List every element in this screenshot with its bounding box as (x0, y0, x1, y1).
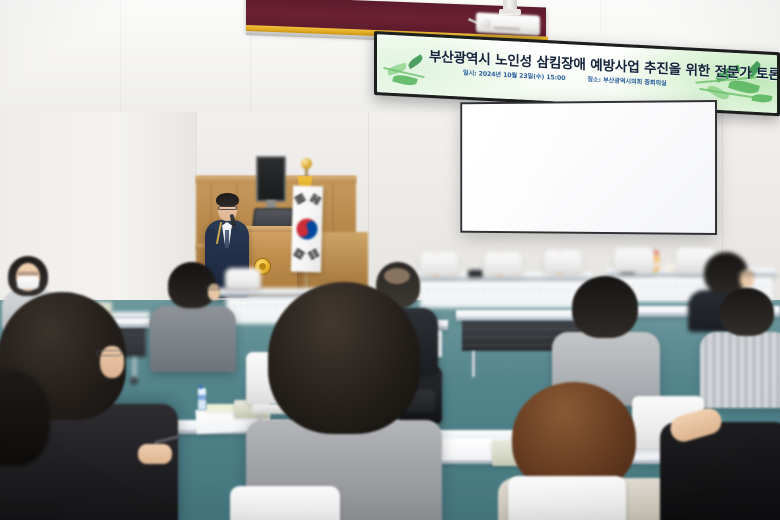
attendee-hair (0, 370, 50, 466)
trigram-geon-icon (294, 193, 306, 205)
screen-surface (462, 102, 715, 233)
glasses-icon (206, 286, 220, 290)
screen-glare (462, 103, 612, 232)
conference-chair (508, 476, 626, 520)
attendee-hand (138, 444, 172, 464)
attendee-striped-shirt (700, 288, 780, 406)
presenter-hair (216, 193, 239, 207)
glasses-icon (218, 206, 237, 210)
attendee-hair (268, 282, 420, 432)
taegukgi-korean-national-flag (291, 186, 323, 273)
glasses-icon (96, 350, 122, 356)
trigram-gam-icon (309, 194, 321, 206)
conference-chair (484, 252, 522, 276)
trigram-gon-icon (308, 249, 320, 261)
taeguk-symbol (293, 215, 321, 243)
flag-finial (301, 158, 312, 169)
leaf-icon (752, 93, 773, 104)
seminar-photo: 부산광역시 노인성 삼킴장애 예방사업 추진을 위한 전문가 토론회 일시: 2… (0, 0, 780, 520)
conference-chair (544, 250, 582, 274)
mobile-phone (468, 270, 483, 277)
table-leg (472, 351, 475, 377)
conference-chair (614, 248, 654, 273)
attendee-hair (720, 288, 774, 336)
glasses-icon (738, 272, 754, 276)
conference-chair (230, 486, 340, 520)
attendee-front-center-grey (246, 282, 442, 520)
presenter-arm (206, 228, 216, 264)
projector-lens (482, 19, 491, 28)
confidence-monitor (256, 156, 286, 202)
ceiling-projector (476, 12, 540, 35)
ceiling-seam (120, 0, 121, 118)
attendee-edge-left (0, 370, 60, 520)
presenter-tie (225, 230, 229, 248)
trigram-ri-icon (293, 248, 305, 260)
projector-mount (503, 0, 517, 14)
projector-label (494, 26, 520, 30)
attendee-front-far-right-black (660, 392, 780, 520)
face-mask-icon (17, 276, 39, 289)
attendee-hair (572, 276, 638, 338)
water-bottle (198, 388, 206, 410)
ceiling-seam (600, 0, 601, 34)
leaf-icon (406, 54, 424, 69)
blank-projection-screen (460, 100, 717, 235)
glasses-icon (18, 272, 38, 275)
